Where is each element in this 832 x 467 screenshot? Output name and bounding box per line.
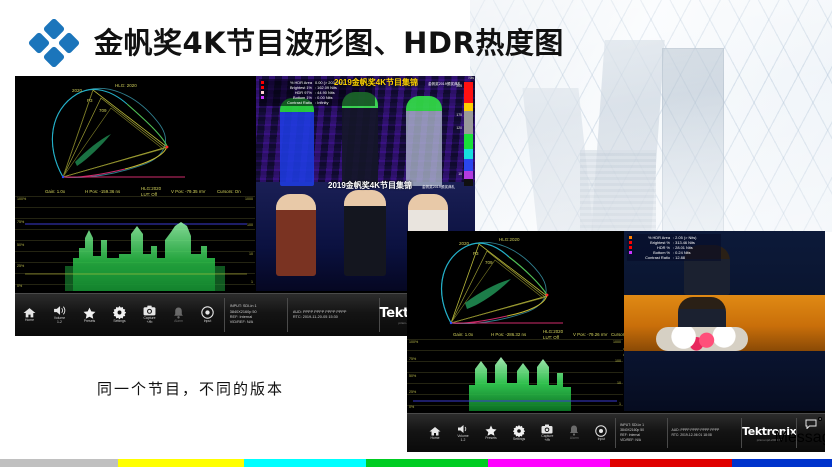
status-gain-secondary: Gain: 1.0x — [453, 332, 473, 337]
toolbar-alarm-label: Alarm — [174, 320, 183, 324]
wfm-scale-left-0: 100% — [17, 197, 26, 201]
wfm-scale-left-4: 0% — [409, 405, 414, 409]
color-bar-segment-red — [610, 459, 732, 467]
volume-icon — [457, 424, 469, 434]
wfm-scale-right-3: 1 — [251, 280, 253, 284]
toolbar-volume-label: Volume 1-2 — [54, 317, 65, 325]
toolbar-alarm-button[interactable]: Alarm — [173, 307, 184, 324]
wfm-scale-right-1: 100 — [615, 359, 621, 363]
status-cursors-primary: Cursors: On — [217, 189, 241, 194]
hdr-stat-value: : Infinity — [315, 100, 328, 105]
slide-header: 金帆奖4K节目波形图、HDR热度图 — [0, 0, 832, 74]
status-rtc-line: RTC: 2019-12-06 01 18:08 — [671, 433, 741, 438]
cie-mode-label: HLG: 2020 — [115, 83, 137, 88]
picture-display-secondary[interactable]: % HDR Area : 2.05 (> Nits) Brightest % :… — [624, 231, 825, 411]
toolbar-status-audio-time: AUD: PPPP PPPP PPPP PPPP RTC: 2019-11-20… — [288, 294, 379, 336]
toolbar-capture-label: Capture +/fb — [143, 317, 155, 325]
waveform-monitor-secondary: 2020 P3 709 HLG:2020 Gain: 1.0x H Pos: -… — [407, 231, 825, 452]
input-icon — [595, 425, 607, 437]
cie-mode-label: HLG:2020 — [499, 237, 520, 242]
toolbar-capture-button[interactable]: Capture +/fb — [143, 305, 156, 325]
diamond-logo-icon — [26, 19, 82, 67]
message-icon — [805, 419, 817, 429]
toolbar-status-input: INPUT: SDI-in 1 3840X2160p 50 REF: Inter… — [225, 294, 287, 336]
wfm-scale-left-2: 50% — [17, 243, 24, 247]
status-hpos-secondary: H Pos: -286.32 ns — [491, 332, 526, 337]
toolbar-volume-button[interactable]: Volume 1-2 — [457, 424, 469, 443]
nits-tick-2: 120 — [456, 126, 462, 130]
host-figure-1 — [276, 194, 316, 276]
waveform-trace — [407, 339, 623, 411]
hdr-stat-row: Contrast Ratio : 12.88 — [629, 255, 719, 260]
wfm-scale-right-0: 1000 — [613, 340, 621, 344]
cie-horseshoe-graph — [15, 76, 255, 188]
instrument-toolbar-secondary: Home Volume 1-2 Presets S — [407, 413, 825, 452]
gear-icon — [113, 306, 126, 319]
toolbar-settings-label: Settings — [113, 320, 125, 324]
toolbar-alarm-label: Alarm — [570, 437, 579, 441]
toolbar-input-button[interactable]: Input — [201, 306, 214, 324]
waveform-display-secondary[interactable]: 100% 75% 50% 25% 0% 1000 100 10 1 — [407, 339, 623, 411]
camera-icon — [143, 305, 156, 316]
status-lut-line1-secondary: HLG:2020 — [543, 329, 563, 334]
hdr-swatch-icon — [629, 256, 632, 259]
hdr-stat-row: Contrast Ratio : Infinity — [261, 100, 373, 105]
instrument-toolbar-primary: Home Volume 1-2 Presets — [15, 293, 475, 336]
toolbar-home-button[interactable]: Home — [429, 426, 441, 441]
wfm-scale-left-3: 25% — [17, 264, 24, 268]
toolbar-capture-label: Capture +/fb — [541, 435, 553, 443]
toolbar-status-input: INPUT: SDI-in 1 3840X2160p 50 REF: Inter… — [616, 414, 667, 452]
star-icon — [83, 307, 96, 319]
toolbar-alarm-button[interactable]: Alarm — [569, 425, 579, 441]
hdr-stat-label: Contrast Ratio — [634, 255, 670, 260]
cie-gamut-display-secondary[interactable]: 2020 P3 709 HLG:2020 — [407, 231, 623, 333]
wfm-scale-right-0: 1000 — [245, 197, 253, 201]
alarm-icon — [173, 307, 184, 319]
toolbar-settings-button[interactable]: Settings — [513, 425, 525, 442]
gear-icon — [513, 425, 525, 437]
home-icon — [23, 307, 36, 318]
heatmap-figure-3 — [406, 96, 442, 186]
hdr-swatch-icon — [629, 251, 632, 254]
toolbar-status-audio-time: AUD: PPPP PPPP PPPP PPPP RTC: 2019-12-06… — [667, 414, 741, 452]
status-vidref-line: VID/REF: N/A — [620, 438, 667, 443]
cie-marker-p3: P3 — [87, 98, 93, 103]
toolbar-settings-button[interactable]: Settings — [113, 306, 126, 324]
color-bar-segment-green — [366, 459, 488, 467]
heatmap-figure-2 — [342, 92, 378, 186]
color-bar-segment-magenta — [488, 459, 610, 467]
hdr-stat-label: Contrast Ratio — [266, 100, 312, 105]
cie-marker-709: 709 — [485, 260, 493, 265]
nits-legend-bar-primary — [464, 82, 473, 186]
wfm-scale-right-2: 10 — [617, 381, 621, 385]
slide-caption: 同一个节目，不同的版本 — [97, 378, 284, 399]
home-icon — [429, 426, 441, 436]
nits-legend-caption: Nits — [469, 76, 475, 80]
input-icon — [201, 306, 214, 319]
messages-badge: 0 — [818, 417, 822, 421]
toolbar-input-label: Input — [204, 320, 212, 324]
scene-lower-background — [624, 351, 825, 411]
status-vpos-primary: V Pos: -79.35 mV — [171, 189, 205, 194]
toolbar-home-button[interactable]: Home — [23, 307, 36, 323]
status-rtc-line: RTC: 2019-11-20-05 15:30 — [293, 315, 379, 320]
hdr-swatch-icon — [629, 241, 632, 244]
hdr-swatch-icon — [261, 86, 264, 89]
toolbar-messages-label: Messages — [775, 429, 825, 447]
color-bar-segment-cyan — [244, 459, 366, 467]
hdr-swatch-icon — [629, 236, 632, 239]
wfm-scale-right-2: 10 — [249, 252, 253, 256]
toolbar-home-label: Home — [430, 437, 439, 441]
toolbar-presets-label: Presets — [485, 437, 497, 441]
cie-marker-2020: 2020 — [72, 88, 82, 93]
hdr-swatch-icon — [261, 96, 264, 99]
volume-icon — [53, 305, 66, 316]
toolbar-capture-button[interactable]: Capture +/fb — [541, 424, 553, 443]
bottom-color-bar — [0, 459, 832, 467]
hdr-stat-value: : 12.88 — [673, 255, 685, 260]
toolbar-icon-group: Home Volume 1-2 Presets — [15, 294, 214, 336]
color-bar-segment-blue — [732, 459, 831, 467]
cie-marker-709: 709 — [99, 108, 107, 113]
toolbar-input-label: Input — [598, 438, 606, 442]
cie-marker-2020: 2020 — [459, 241, 469, 246]
wfm-scale-left-0: 100% — [409, 340, 418, 344]
toolbar-icon-group: Home Volume 1-2 Presets S — [407, 414, 607, 452]
program-title-top: 2019金帆奖4K节目集锦 — [334, 77, 418, 88]
wfm-scale-left-1: 75% — [409, 357, 416, 361]
toolbar-messages-button[interactable]: 0 Messages — [797, 414, 825, 452]
nits-tick-0: 203 — [456, 84, 462, 88]
hdr-swatch-icon — [261, 101, 264, 104]
status-hpos-primary: H Pos: -159.36 ns — [85, 189, 120, 194]
toolbar-volume-label: Volume 1-2 — [457, 435, 468, 443]
status-vpos-secondary: V Pos: -79.26 mV — [573, 332, 607, 337]
status-vidref-line: VID/REF: N/A — [230, 320, 287, 325]
program-title-bottom: 2019金帆奖4K节目集锦 — [328, 180, 412, 191]
hdr-stats-panel-secondary: % HDR Area : 2.05 (> Nits) Brightest % :… — [627, 234, 721, 261]
wfm-scale-left-4: 0% — [17, 284, 22, 288]
cie-horseshoe-graph — [407, 231, 623, 333]
wfm-scale-left-3: 25% — [409, 390, 416, 394]
cie-gamut-display-primary[interactable]: 2020 P3 709 HLG: 2020 — [15, 76, 255, 188]
color-bar-segment-yellow — [118, 459, 245, 467]
program-subtitle-bottom: 金帆奖2019颁奖典礼 — [422, 185, 455, 190]
host-figure-2 — [344, 190, 386, 276]
star-icon — [485, 425, 497, 436]
color-bar-segment-gray — [0, 459, 118, 467]
toolbar-settings-label: Settings — [513, 438, 525, 442]
heatmap-figure-1 — [280, 98, 314, 186]
wfm-scale-right-3: 1 — [619, 402, 621, 406]
toolbar-presets-label: Presets — [84, 320, 96, 324]
toolbar-volume-button[interactable]: Volume 1-2 — [53, 305, 66, 325]
nits-tick-3: 10 — [458, 172, 462, 176]
hdr-swatch-icon — [629, 246, 632, 249]
toolbar-presets-button[interactable]: Presets — [485, 425, 497, 441]
alarm-icon — [569, 425, 579, 436]
camera-icon — [541, 424, 553, 434]
waveform-trace — [15, 196, 255, 291]
wfm-scale-right-1: 100 — [247, 223, 253, 227]
wfm-scale-left-2: 50% — [409, 374, 416, 378]
wfm-scale-left-1: 75% — [17, 220, 24, 224]
hdr-swatch-icon — [261, 91, 264, 94]
page-title: 金帆奖4K节目波形图、HDR热度图 — [94, 20, 564, 62]
status-lut-line1-primary: HLG:2020 — [141, 186, 161, 191]
nits-tick-1: 175 — [456, 113, 462, 117]
toolbar-input-button[interactable]: Input — [595, 425, 607, 442]
hdr-swatch-icon — [261, 81, 264, 84]
toolbar-presets-button[interactable]: Presets — [83, 307, 96, 324]
status-gain-primary: Gain: 1.0x — [45, 189, 65, 194]
flower-arrangement — [656, 327, 748, 351]
toolbar-home-label: Home — [25, 319, 34, 323]
waveform-display-primary[interactable]: 100% 75% 50% 25% 0% 1000 100 10 1 — [15, 196, 255, 291]
waveform-monitor-primary: 2020 P3 709 HLG: 2020 Gain: 1.0x H Pos: … — [15, 76, 475, 336]
cie-marker-p3: P3 — [473, 251, 479, 256]
